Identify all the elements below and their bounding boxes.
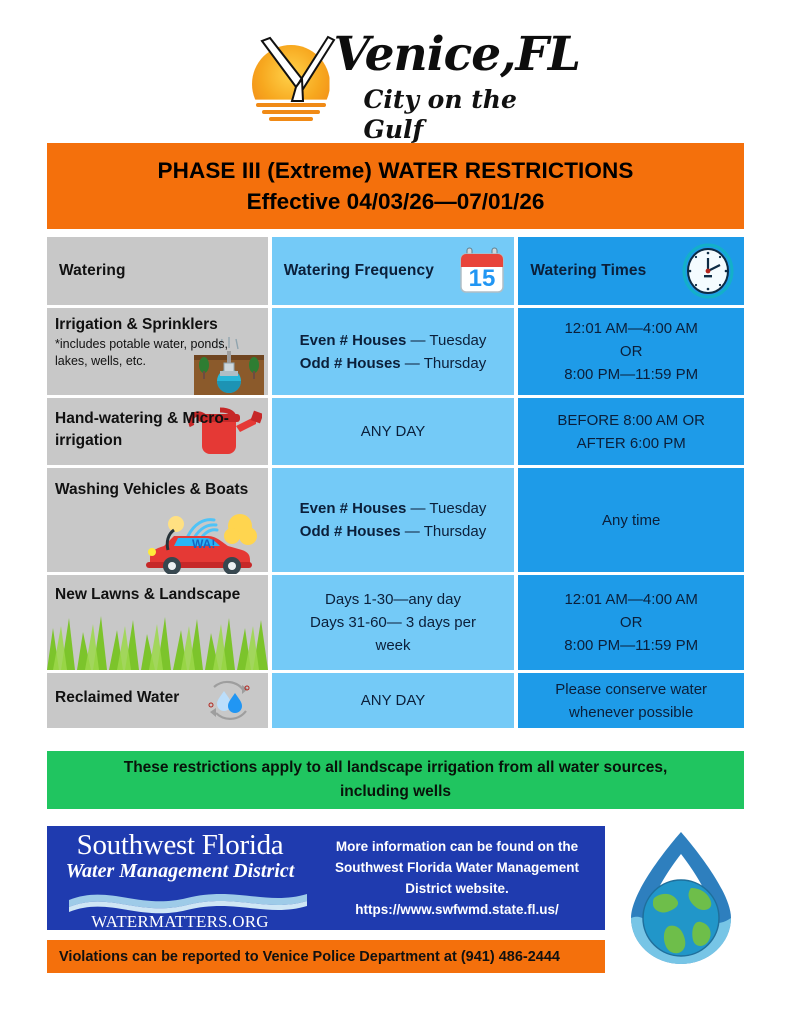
row-frequency-cell: Even # Houses — Tuesday Odd # Houses — T… <box>272 468 515 572</box>
column-header-times: Watering Times <box>518 237 744 305</box>
frequency-bold: Even # Houses <box>300 500 407 517</box>
swfwmd-line3: WATERMATTERS.ORG <box>55 912 305 930</box>
frequency-text: Even # Houses — Tuesday Odd # Houses — T… <box>294 493 493 547</box>
frequency-text: ANY DAY <box>355 685 431 716</box>
frequency-bold: Even # Houses <box>300 332 407 349</box>
times-line: BEFORE 8:00 AM OR <box>557 409 705 432</box>
times-text: Any time <box>596 505 666 536</box>
frequency-line: ANY DAY <box>361 689 425 712</box>
times-line: Any time <box>602 509 660 532</box>
row-category-label: Irrigation & Sprinklers <box>47 308 268 335</box>
water-drop-globe-icon <box>613 826 749 964</box>
times-text: BEFORE 8:00 AM OR AFTER 6:00 PM <box>551 405 711 459</box>
row-category-label: New Lawns & Landscape <box>47 575 268 605</box>
swfwmd-footer-panel: Southwest Florida Water Management Distr… <box>47 826 605 930</box>
row-frequency-cell: Days 1-30—any day Days 31-60— 3 days per… <box>272 575 515 670</box>
row-category-text: New Lawns & Landscape <box>55 586 240 603</box>
times-line: AFTER 6:00 PM <box>557 432 705 455</box>
column-header-watering: Watering <box>47 237 268 305</box>
calendar-day-number: 15 <box>469 265 496 292</box>
row-times-cell: Any time <box>518 468 744 572</box>
calendar-icon: 15 <box>456 245 508 297</box>
row-category-label: Washing Vehicles & Boats <box>47 468 268 502</box>
times-line: whenever possible <box>555 701 707 724</box>
times-line: 8:00 PM—11:59 PM <box>564 363 698 386</box>
frequency-line: ANY DAY <box>361 420 425 443</box>
info-line: District website. <box>317 878 597 899</box>
phase-title: PHASE III (Extreme) WATER RESTRICTIONS <box>158 155 634 186</box>
row-category-cell: Washing Vehicles & Boats WA! <box>47 468 268 572</box>
times-text: 12:01 AM—4:00 AM OR 8:00 PM—11:59 PM <box>558 584 704 661</box>
times-text: 12:01 AM—4:00 AM OR 8:00 PM—11:59 PM <box>558 313 704 390</box>
table-row: Washing Vehicles & Boats WA! <box>47 468 744 572</box>
row-category-cell: New Lawns & Landscape <box>47 575 268 670</box>
row-times-cell: 12:01 AM—4:00 AM OR 8:00 PM—11:59 PM <box>518 575 744 670</box>
info-line: More information can be found on the <box>317 836 597 857</box>
frequency-rest: — Tuesday <box>406 500 486 517</box>
row-category-text: Hand-watering & Micro-irrigation <box>55 410 229 449</box>
frequency-bold: Odd # Houses <box>300 355 401 372</box>
frequency-rest: — Thursday <box>401 523 487 540</box>
row-category-label: Hand-watering & Micro-irrigation <box>47 398 268 452</box>
row-frequency-cell: Even # Houses — Tuesday Odd # Houses — T… <box>272 308 515 395</box>
row-category-text: Reclaimed Water <box>55 689 179 706</box>
logo-tagline-text: City on the Gulf <box>364 85 564 145</box>
info-line: Southwest Florida Water Management <box>317 857 597 878</box>
row-frequency-cell: ANY DAY <box>272 673 515 728</box>
times-line: 12:01 AM—4:00 AM <box>564 317 698 340</box>
frequency-rest: — Thursday <box>401 355 487 372</box>
grass-icon <box>47 612 268 670</box>
times-line: 8:00 PM—11:59 PM <box>564 634 698 657</box>
times-text: Please conserve water whenever possible <box>549 674 713 728</box>
seagull-icon <box>256 35 344 107</box>
frequency-line: week <box>310 634 476 657</box>
frequency-line: Days 1-30—any day <box>310 588 476 611</box>
table-row: Hand-watering & Micro-irrigation ANY DAY <box>47 398 744 465</box>
row-times-cell: Please conserve water whenever possible <box>518 673 744 728</box>
row-category-label: Reclaimed Water <box>47 673 268 708</box>
frequency-rest: — Tuesday <box>406 332 486 349</box>
table-row: Irrigation & Sprinklers *includes potabl… <box>47 308 744 395</box>
column-header-label: Watering <box>47 262 126 280</box>
green-notice-line1: These restrictions apply to all landscap… <box>124 756 668 780</box>
row-times-cell: 12:01 AM—4:00 AM OR 8:00 PM—11:59 PM <box>518 308 744 395</box>
column-header-label: Watering Frequency <box>272 262 434 280</box>
phase-header-banner: PHASE III (Extreme) WATER RESTRICTIONS E… <box>47 143 744 229</box>
clock-icon <box>680 243 736 299</box>
row-category-cell: Irrigation & Sprinklers *includes potabl… <box>47 308 268 395</box>
table-row: New Lawns & Landscape <box>47 575 744 670</box>
swfwmd-logo: Southwest Florida Water Management Distr… <box>55 830 305 930</box>
svg-text:WA!: WA! <box>192 537 215 551</box>
frequency-bold: Odd # Houses <box>300 523 401 540</box>
swfwmd-line1: Southwest Florida <box>55 830 305 860</box>
logo-city-text: Venice,FL <box>334 29 549 81</box>
row-frequency-cell: ANY DAY <box>272 398 515 465</box>
frequency-line: Days 31-60— 3 days per <box>310 611 476 634</box>
effective-dates: Effective 04/03/26—07/01/26 <box>247 186 545 217</box>
row-category-note: *includes potable water, ponds, lakes, w… <box>47 335 268 370</box>
times-line: OR <box>564 340 698 363</box>
car-wash-icon: WA! <box>136 508 266 574</box>
times-line: 12:01 AM—4:00 AM <box>564 588 698 611</box>
violations-text: Violations can be reported to Venice Pol… <box>47 949 560 965</box>
table-row: Reclaimed Water ANY <box>47 673 744 728</box>
green-notice-banner: These restrictions apply to all landscap… <box>47 751 744 809</box>
column-header-frequency: Watering Frequency 15 <box>272 237 515 305</box>
times-line: OR <box>564 611 698 634</box>
violations-banner: Violations can be reported to Venice Pol… <box>47 940 605 973</box>
frequency-text: Even # Houses — Tuesday Odd # Houses — T… <box>294 325 493 379</box>
swfwmd-info-text: More information can be found on the Sou… <box>317 836 597 920</box>
restrictions-table: Watering Watering Frequency 15 Watering … <box>47 237 744 731</box>
row-category-cell: Hand-watering & Micro-irrigation <box>47 398 268 465</box>
table-header-row: Watering Watering Frequency 15 Watering … <box>47 237 744 305</box>
frequency-text: ANY DAY <box>355 416 431 447</box>
green-notice-line2: including wells <box>340 780 451 804</box>
row-category-cell: Reclaimed Water <box>47 673 268 728</box>
venice-fl-logo: Venice,FL City on the Gulf <box>0 22 791 134</box>
column-header-label: Watering Times <box>518 262 646 280</box>
wave-icon <box>69 888 307 914</box>
times-line: Please conserve water <box>555 678 707 701</box>
flyer-page: Venice,FL City on the Gulf PHASE III (Ex… <box>0 0 791 1024</box>
frequency-text: Days 1-30—any day Days 31-60— 3 days per… <box>304 584 482 661</box>
swfwmd-line2: Water Management District <box>55 860 305 882</box>
row-category-text: Washing Vehicles & Boats <box>55 481 248 498</box>
swfwmd-website-url[interactable]: https://www.swfwmd.state.fl.us/ <box>317 899 597 920</box>
row-times-cell: BEFORE 8:00 AM OR AFTER 6:00 PM <box>518 398 744 465</box>
